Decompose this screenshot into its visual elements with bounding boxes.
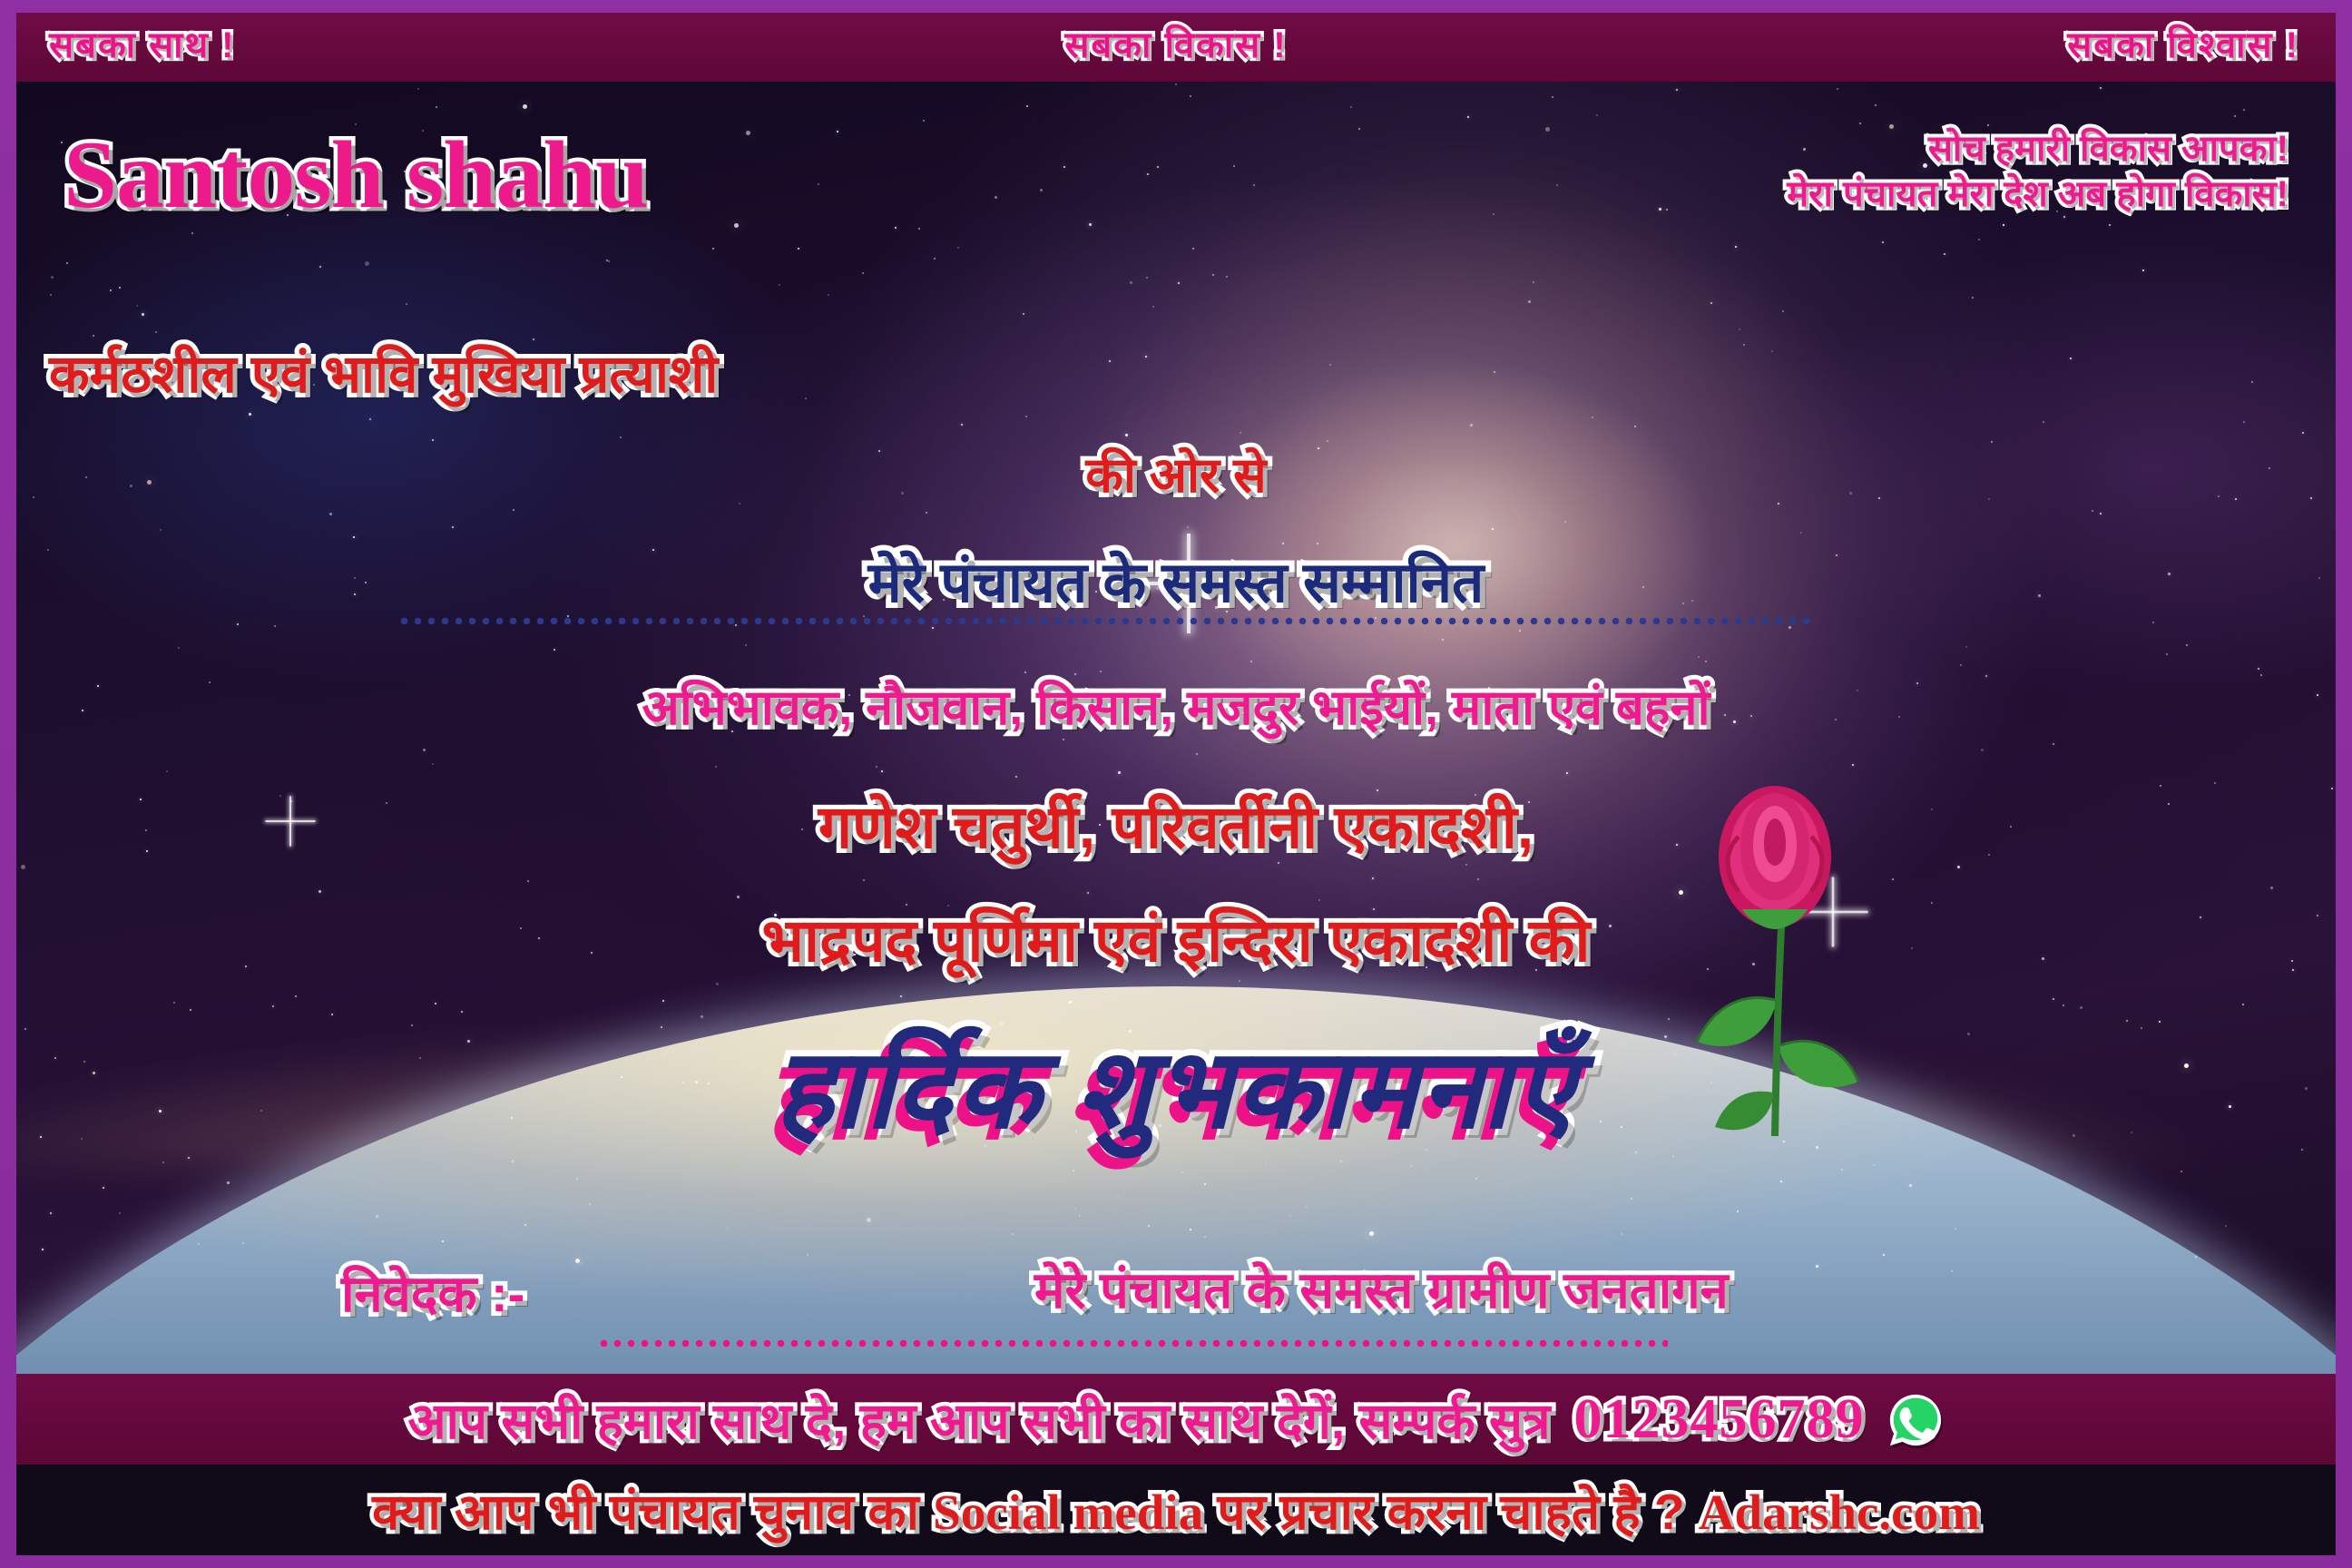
greeting-headline: हार्दिक शुभकामनाएँ [775,1009,1577,1160]
festival-line1: गणेश चतुर्थी, परिवर्तीनी एकादशी, [818,784,1534,866]
decorative-dotted-rule [597,1339,1668,1347]
footer-promo-suffix: पर प्रचार करना चाहते है ? [1203,1484,1699,1540]
decorative-dotted-rule [397,617,1813,625]
candidate-designation: कर्मठशील एवं भावि मुखिया प्रत्याशी [49,336,718,407]
rose-flower-icon [1684,773,1866,1200]
sender-label: निवेदक :- [341,1258,524,1327]
right-slogan-line1: सोच हमारी विकास आपका! [1787,127,2288,172]
festival-line2: भाद्रपद पूर्णिमा एवं इन्दिरा एकादशी की [762,897,1591,979]
from-line: की ओर से [1085,439,1266,506]
right-slogan-block: सोच हमारी विकास आपका! मेरा पंचायत मेरा द… [1787,127,2288,217]
footer-promo-prefix: क्या आप भी पंचायत चुनाव का [372,1484,933,1540]
slogan-sabka-vikas: सबका विकास ! [1064,18,1287,68]
footer-website[interactable]: Adarshc.com [1699,1485,1980,1540]
footer-phone-number[interactable]: 0123456789 [1573,1387,1864,1452]
slogan-sabka-vishwas: सबका विश्वास ! [2067,18,2299,68]
candidate-name: Santosh shahu [64,120,648,230]
footer-promo-highlight: Social media [933,1485,1203,1540]
poster-canvas: सबका साथ ! सबका विकास ! सबका विश्वास ! S… [0,0,2352,1568]
top-slogan-bar: सबका साथ ! सबका विकास ! सबका विश्वास ! [16,13,2336,82]
footer-contact-row: आप सभी हमारा साथ दे, हम आप सभी का साथ दे… [16,1386,2336,1454]
footer-support-text: आप सभी हमारा साथ दे, हम आप सभी का साथ दे… [408,1386,1551,1454]
whatsapp-icon[interactable] [1887,1392,1944,1448]
addressed-to-line2: अभिभावक, नौजवान, किसान, मजदुर भाईयों, मा… [642,671,1710,739]
right-slogan-line2: मेरा पंचायत मेरा देश अब होगा विकास! [1787,172,2288,218]
footer-promo-row: क्या आप भी पंचायत चुनाव का Social media … [16,1476,2336,1544]
addressed-to-line1: मेरे पंचायत के समस्त सम्मानित [868,543,1485,619]
poster-inner-frame: सबका साथ ! सबका विकास ! सबका विश्वास ! S… [16,13,2336,1555]
sender-value: मेरे पंचायत के समस्त ग्रामीण जनतागन [1034,1254,1729,1323]
slogan-sabka-saath: सबका साथ ! [49,18,235,68]
poster-content: Santosh shahu सोच हमारी विकास आपका! मेरा… [16,13,2336,1555]
